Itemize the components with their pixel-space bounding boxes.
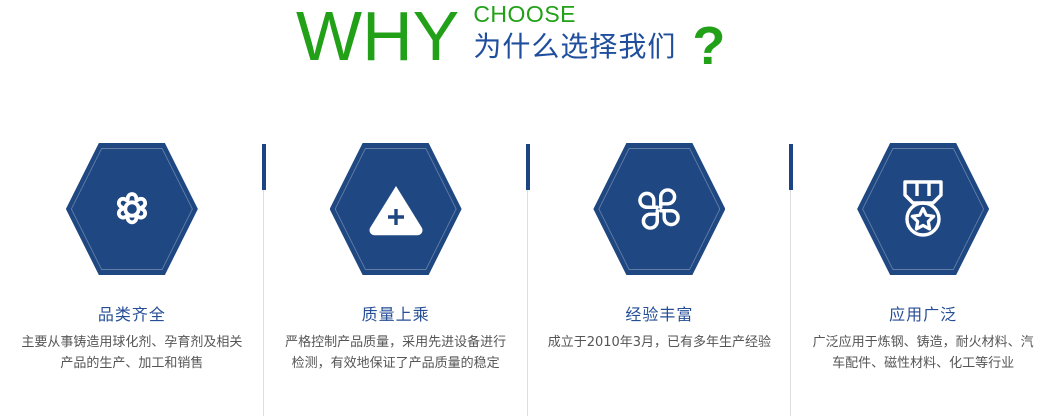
header-text-stack: CHOOSE 为什么选择我们: [473, 1, 676, 64]
feature-title-4: 应用广泛: [889, 305, 957, 325]
section-header: WHY CHOOSE 为什么选择我们 ?: [0, 0, 1055, 96]
hexagon-badge-4: [857, 143, 989, 275]
triangle-plus-icon: [330, 143, 462, 275]
header-choose-word: CHOOSE: [473, 1, 676, 27]
gear-icon: [66, 143, 198, 275]
feature-desc-4: 广泛应用于炼钢、铸造，耐火材料、汽车配件、磁性材料、化工等行业: [808, 332, 1038, 374]
feature-column-3: 经验丰富 成立于2010年3月，已有多年生产经验: [528, 96, 792, 416]
header-inner: WHY CHOOSE 为什么选择我们 ?: [296, 0, 725, 76]
header-chinese-title: 为什么选择我们: [473, 30, 676, 64]
medal-star-icon: [857, 143, 989, 275]
header-question-mark: ?: [692, 16, 725, 76]
hexagon-badge-1: [66, 143, 198, 275]
feature-columns: 品类齐全 主要从事铸造用球化剂、孕育剂及相关产品的生产、加工和销售 质量上乘 严…: [0, 96, 1055, 416]
feature-column-2: 质量上乘 严格控制产品质量，采用先进设备进行检测，有效地保证了产品质量的稳定: [264, 96, 528, 416]
feature-desc-1: 主要从事铸造用球化剂、孕育剂及相关产品的生产、加工和销售: [17, 332, 247, 374]
feature-title-2: 质量上乘: [362, 305, 430, 325]
hexagon-badge-3: [593, 143, 725, 275]
four-petal-clover-icon: [593, 143, 725, 275]
feature-desc-2: 严格控制产品质量，采用先进设备进行检测，有效地保证了产品质量的稳定: [281, 332, 511, 374]
feature-column-1: 品类齐全 主要从事铸造用球化剂、孕育剂及相关产品的生产、加工和销售: [0, 96, 264, 416]
hexagon-badge-2: [330, 143, 462, 275]
header-why-word: WHY: [296, 0, 459, 74]
feature-title-3: 经验丰富: [625, 305, 693, 325]
feature-column-4: 应用广泛 广泛应用于炼钢、铸造，耐火材料、汽车配件、磁性材料、化工等行业: [791, 96, 1055, 416]
feature-desc-3: 成立于2010年3月，已有多年生产经验: [544, 332, 774, 353]
feature-title-1: 品类齐全: [98, 305, 166, 325]
